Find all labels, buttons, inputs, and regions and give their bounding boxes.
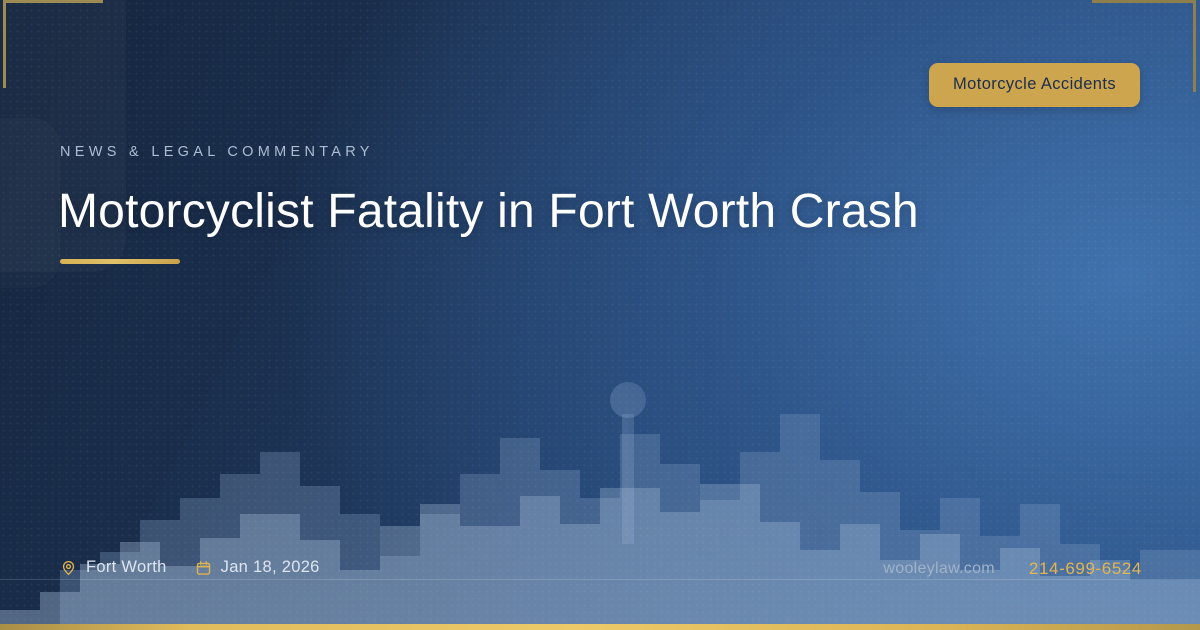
observation-tower [610,382,646,544]
website-link[interactable]: wooleylaw.com [883,560,995,578]
footer-meta-group: Fort Worth Jan 18, 2026 [60,558,320,577]
corner-accent-top-left [3,0,103,88]
location-meta: Fort Worth [60,558,167,577]
eyebrow-label: NEWS & LEGAL COMMENTARY [60,144,374,160]
page-title: Motorcyclist Fatality in Fort Worth Cras… [58,183,919,240]
title-underline-rule [60,259,180,264]
category-badge[interactable]: Motorcycle Accidents [929,63,1140,107]
date-meta: Jan 18, 2026 [195,558,320,577]
city-skyline-silhouette [0,374,1200,624]
social-card: Motorcycle Accidents NEWS & LEGAL COMMEN… [0,0,1200,630]
phone-number[interactable]: 214-699-6524 [1029,559,1142,579]
decorative-panel-secondary [0,118,60,288]
footer-divider [0,579,1200,580]
footer-contact-group: wooleylaw.com 214-699-6524 [883,559,1142,579]
date-label: Jan 18, 2026 [221,558,320,577]
bottom-accent-bar [0,624,1200,630]
location-label: Fort Worth [86,558,167,577]
calendar-icon [195,559,212,577]
map-pin-icon [60,559,77,577]
